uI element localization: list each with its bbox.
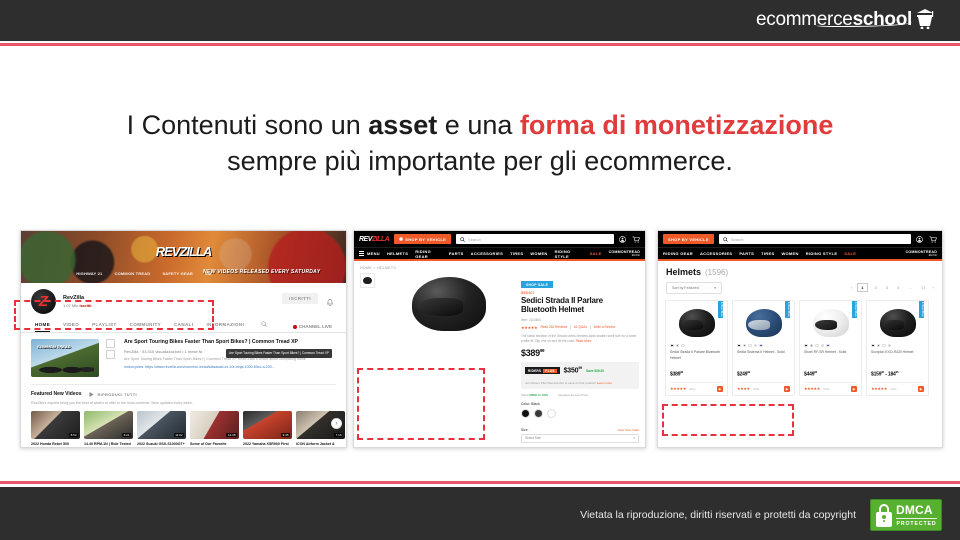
star-rating-icon: ★★★★★ [670,386,686,391]
subs-label: iscritti [79,303,91,308]
price-dollars: $389 [521,348,540,358]
live-dot-icon [293,325,297,329]
graduation-cart-icon [914,9,936,29]
shipping-free: Ships FREE to USA [521,393,548,397]
featured-section-header: Featured New Videos RIPRODUCI TUTTI [21,385,346,397]
video-thumbnail[interactable]: 11:02 [137,411,186,439]
share-icon[interactable] [106,339,115,348]
play-icon [89,392,94,397]
featured-video-row[interactable]: 8:53 2022 Honda Rebel 500 Review | Daily… [21,406,346,448]
headline-part-1: I Contenuti sono un [127,110,369,140]
star-rating-icon: ★★★★★ [521,325,537,330]
add-to-cart-row[interactable]: 1▾ ADD TO CART [521,447,639,448]
color-dot[interactable] [743,344,747,348]
play-all-button[interactable]: RIPRODUCI TUTTI [89,392,136,397]
product-image[interactable] [804,305,857,341]
product-card[interactable]: 4 Star Plus Scorpion EXO-R420 Helmet $15… [866,300,929,396]
product-brand[interactable]: SEDICI [521,291,639,295]
product-rating: ★★★★★ (262) ▶ [670,382,723,395]
featured-video-views: 53.015 visualizzazioni • 1 mese fa [142,349,202,354]
tab-video[interactable]: VIDEO [63,322,79,331]
search-icon [460,237,465,242]
price-dollars: $249 [737,372,747,378]
tab-playlist[interactable]: PLAYLIST [92,322,117,331]
video-duration: 9:45 [281,433,290,437]
product-price: $15995 - 18495 [871,370,924,378]
dmca-label: DMCA [896,504,937,516]
channel-tab-bar[interactable]: HOME VIDEO PLAYLIST COMMUNITY CANALI INF… [21,317,346,333]
blog-subtitle: BLOG [906,254,937,257]
video-badge-icon[interactable]: ▶ [717,386,723,392]
commontread-blog-link[interactable]: COMMONTREADBLOG [609,250,640,257]
live-text: CHANNEL LIVE [299,324,332,329]
tab-community[interactable]: COMMUNITY [130,322,161,331]
nav-women[interactable]: WOMEN [781,251,798,256]
page-4[interactable]: 4 [895,284,901,291]
video-thumbnail[interactable]: 6:21 [84,411,133,439]
video-title[interactable]: Some of Our Favorite Listener Comments f… [190,442,239,448]
size-label: Size: [521,428,528,432]
chevron-right-icon[interactable]: › [933,285,934,290]
search-icon [723,237,728,242]
banner-brand-0: HIGHWAY 21 [76,271,102,276]
swatch-dark-gray[interactable] [534,409,543,418]
color-dot[interactable] [670,344,674,348]
color-dot[interactable] [737,344,741,348]
read-more-link[interactable]: Read More [576,339,592,343]
product-rating-row: ★★★★★ Read 262 Reviews | 62 Q&As | Write… [521,325,639,330]
revzilla-banner-logo: REVZILLA [156,244,212,259]
color-dot[interactable] [877,344,881,348]
video-duration: 14:38 [226,433,237,437]
video-badge-icon[interactable]: ▶ [784,386,790,392]
product-flag: 4 Star Plus [852,301,857,318]
list-item[interactable]: 7:16 ICON Airform Jacket & Pants | Gear … [296,411,345,448]
list-item[interactable]: 6:21 14.40 RPM-1N | Ride Tested RevZilla… [84,411,133,448]
product-description: The latest iteration of the Strada serie… [521,334,639,345]
product-item-number: Item: 1103801 [521,318,639,322]
copyright-notice: Vietata la riproduzione, diritti riserva… [580,509,856,521]
helmet-icon [679,309,715,337]
riders-plus-note-text: Join Riders Plus Membership to save on t… [525,381,596,385]
color-dot[interactable] [676,344,680,348]
shop-by-vehicle-label: SHOP BY VEHICLE [668,237,709,242]
product-price: $38999 [521,348,639,358]
search-placeholder: Search [731,237,744,242]
breadcrumb[interactable]: HOME > HELMETS [354,261,645,273]
color-dot[interactable] [882,344,886,348]
review-count: (158) [753,387,760,391]
featured-video-channel: RevZilla [124,349,138,354]
chevron-left-icon[interactable]: ‹ [851,285,852,290]
guaranteed-low-price: Guaranteed Low Price [558,393,588,397]
plus-price-cents: 99 [578,366,582,370]
color-dot[interactable] [871,344,875,348]
color-options[interactable] [871,344,924,348]
product-image[interactable] [670,305,723,341]
featured-video-side-icons[interactable] [106,339,115,377]
riders-plus-box[interactable]: RIDERSPLUS $35099 Save $39.00 Join Rider… [521,362,639,388]
product-grid: 4 Star Plus Sedici Strada II Parlare Blu… [658,294,942,396]
video-thumbnail[interactable]: 8:53 [31,411,80,439]
featured-video-title[interactable]: Are Sport Touring Bikes Faster Than Spor… [124,339,336,347]
cart-icon [632,236,640,243]
screenshot-product-listing[interactable]: SHOP BY VEHICLE Search RIDING GEAR ACCES… [657,230,943,448]
brand-logo: ecommerceschool [756,9,936,29]
questions-link[interactable]: 62 Q&As [574,325,587,329]
product-rating: ★★★★ (158) ▶ [737,382,790,395]
rating-sep: | [570,325,571,329]
logo-accent: ZILLA [372,236,389,243]
product-name[interactable]: Sedici Sistema II Helmet - Solid [737,350,790,367]
revzilla-logo[interactable]: REVZILLA [359,236,389,243]
size-select[interactable]: Select Size▾ [521,434,639,443]
price-cents: 99 [747,370,750,374]
shipping-info: Ships FREE to USA Guaranteed Low Price [521,393,639,397]
header-icons[interactable] [619,236,640,243]
channel-name: RevZilla [63,295,91,301]
product-image[interactable] [737,305,790,341]
featured-section-description: RevZilla's experts bring you the best of… [21,397,346,406]
main-nav[interactable]: MENU HELMETS RIDING GEAR PARTS ACCESSORI… [354,247,645,259]
video-title[interactable]: 14.40 RPM-1N | Ride Tested [84,442,133,448]
featured-video-thumbnail[interactable]: COMMON TREAD [31,339,99,377]
header-rule-red [0,43,960,46]
size-row: Size: View Size Chart [521,423,639,432]
search-input[interactable]: Search [719,234,911,244]
review-count: (262) [689,387,696,391]
headline-accent: forma di monetizzazione [520,110,834,140]
video-duration: 8:53 [69,433,78,437]
video-thumbnail[interactable]: 9:45 [243,411,292,439]
user-icon [916,236,923,243]
headline-line-2: sempre più importante per gli ecommerce. [227,146,733,176]
dmca-text: DMCA PROTECTED [896,504,937,527]
color-dot[interactable] [759,344,763,348]
featured-video-tooltip: Are Sport Touring Bikes Faster Than Spor… [226,349,332,358]
banner-brand-strip: HIGHWAY 21 COMMON TREAD SAFETY GEAR SM [76,271,211,276]
banner-tagline: NEW VIDEOS RELEASED EVERY SATURDAY [203,269,320,275]
video-badge-icon[interactable]: ▶ [918,386,924,392]
user-icon [619,236,626,243]
subs-count: 1,07 Mln [63,303,79,308]
nav-tires[interactable]: TIRES [510,251,523,256]
video-duration: 6:21 [122,433,131,437]
color-dot[interactable] [821,344,825,348]
tab-canali[interactable]: CANALI [174,322,193,331]
sale-badge[interactable]: SHOP SALE [521,281,553,288]
list-item[interactable]: 11:02 2022 Suzuki GSX-S1000GT+ | Daily R… [137,411,186,448]
page-last[interactable]: 17 [919,284,927,291]
bell-icon[interactable] [326,294,334,302]
listing-toolbar: Sort by Featured▾ ‹ 1 2 3 4 … 17 › [658,277,942,294]
featured-video-link[interactable]: motorcycles: https://www.revzilla.com/co… [124,365,336,371]
nav-women[interactable]: WOMEN [530,251,547,256]
menu-button[interactable]: MENU [359,251,380,256]
chevron-down-icon: ▾ [633,436,635,440]
headline-asset: asset [368,110,437,140]
nav-riding-gear[interactable]: RIDING GEAR [663,251,693,256]
featured-video-block[interactable]: COMMON TREAD Are Sport Touring Bikes Fas… [21,333,346,381]
dmca-protected-badge[interactable]: DMCA PROTECTED [870,499,942,531]
featured-thumb-badge: COMMON TREAD [37,344,71,349]
price-cents: 99 [540,348,544,353]
dmca-sublabel: PROTECTED [896,518,937,527]
product-price: $24999 [737,370,790,378]
nav-parts[interactable]: PARTS [449,251,464,256]
plus-price-dollars: $350 [564,368,579,375]
search-icon[interactable] [261,321,267,332]
hamburger-icon [359,251,364,255]
screenshot-youtube-channel[interactable]: REVZILLA NEW VIDEOS RELEASED EVERY SATUR… [20,230,347,448]
color-dot[interactable] [804,344,808,348]
color-dot[interactable] [815,344,819,348]
page-3[interactable]: 3 [884,284,890,291]
nav-accessories[interactable]: ACCESSORIES [700,251,732,256]
list-item[interactable]: 8:53 2022 Honda Rebel 500 Review | Daily… [31,411,80,448]
product-detail-body: SHOP SALE SEDICI Sedici Strada II Parlar… [354,273,645,449]
nav-accessories[interactable]: ACCESSORIES [471,251,503,256]
read-reviews-link[interactable]: Read 262 Reviews [540,325,567,329]
product-thumbnail[interactable] [360,273,375,288]
page-title: I Contenuti sono un asset e una forma di… [40,108,920,179]
banner-brand-2: SAFETY GEAR [162,271,193,276]
riders-plus-word-1: RIDERS [528,369,541,373]
price-dollars: $159 [871,372,881,378]
price-cents: 99 [680,370,683,374]
star-rating-icon: ★★★★★ [871,386,887,391]
color-dot[interactable] [810,344,814,348]
price-range-second-cents: 95 [896,370,899,374]
nav-riding-style[interactable]: RIDING STYLE [555,249,583,259]
list-item[interactable]: 14:38 Some of Our Favorite Listener Comm… [190,411,239,448]
tab-home[interactable]: HOME [35,322,50,332]
product-card[interactable]: 4 Star Plus Shoei RF-SR Helmet - Solid $… [799,300,862,396]
swatch-black[interactable] [521,409,530,418]
star-rating-icon: ★★★★ [737,386,750,391]
channel-identity: RevZilla 1,07 Mln iscritti [63,295,91,308]
size-chart-link[interactable]: View Size Chart [618,428,639,432]
video-title[interactable]: ICON Airform Jacket & Pants | Gear Teste… [296,442,345,448]
nav-riding-gear[interactable]: RIDING GEAR [415,249,442,259]
commontread-blog-link[interactable]: COMMONTREADBLOG [906,250,937,257]
product-name[interactable]: Scorpion EXO-R420 Helmet [871,350,924,367]
screenshot-product-detail[interactable]: REVZILLA SHOP BY VEHICLE Search MENU HEL… [353,230,646,448]
video-title[interactable]: 2022 Suzuki GSX-S1000GT+ | Daily Rider R… [137,442,186,448]
tab-informazioni[interactable]: INFORMAZIONI [206,322,244,331]
product-thumbnail-list[interactable] [360,273,376,449]
riders-plus-logo: RIDERSPLUS [525,367,560,374]
nav-helmets[interactable]: HELMETS [387,251,408,256]
color-dot[interactable] [888,344,892,348]
vehicle-icon [399,237,403,241]
slide-root: ecommerceschool I Contenuti sono un asse… [0,0,960,540]
product-info-panel: SHOP SALE SEDICI Sedici Strada II Parlar… [521,273,639,449]
color-label: Color: Black [521,402,639,406]
video-title[interactable]: 2022 Yamaha XSR900 First Ride Review [243,442,292,448]
product-card[interactable]: 4 Star Plus Sedici Strada II Parlare Blu… [665,300,728,396]
color-options[interactable] [804,344,857,348]
product-name[interactable]: Shoei RF-SR Helmet - Solid [804,350,857,367]
product-flag: 4 Star Plus [718,301,723,318]
youtube-channel-header: RevZilla 1,07 Mln iscritti ISCRITTI [21,283,346,317]
color-dot[interactable] [681,344,685,348]
price-dollars: $449 [804,372,814,378]
color-dot[interactable] [748,344,752,348]
featured-video-meta: Are Sport Touring Bikes Faster Than Spor… [124,339,336,377]
footer-bar: Vietata la riproduzione, diritti riserva… [0,490,960,540]
size-select-value: Select Size [525,436,541,440]
helmet-image [412,277,486,331]
swatch-white[interactable] [547,409,556,418]
header-icons[interactable] [916,236,937,243]
review-count: (139) [823,387,830,391]
product-rating: ★★★★★ (344) ▶ [871,382,924,395]
lock-icon [875,503,893,527]
color-dot[interactable] [826,344,830,348]
product-image[interactable] [871,305,924,341]
price-range-second: - 184 [884,372,896,378]
riders-plus-word-2: PLUS [543,369,556,373]
riders-plus-price: $35099 [564,366,582,374]
color-swatch-group[interactable] [521,409,639,418]
video-title[interactable]: 2022 Honda Rebel 500 Review | Daily Ride… [31,442,80,448]
cart-icon [929,236,937,243]
video-thumbnail[interactable]: 14:38 [190,411,239,439]
helmet-icon [880,309,916,337]
sort-dropdown[interactable]: Sort by Featured▾ [666,282,722,294]
ship-value: FREE to USA [529,393,548,397]
nav-parts[interactable]: PARTS [739,251,754,256]
category-product-count: (1596) [705,268,728,277]
chevron-down-icon: ▾ [714,286,716,290]
sort-value: Sort by Featured [672,286,699,290]
riders-plus-note: Join Riders Plus Membership to save on t… [525,381,635,385]
save-icon[interactable] [106,350,115,359]
product-hero-image[interactable] [381,273,516,449]
category-title-row: Helmets (1596) [658,261,942,277]
banner-brand-1: COMMON TREAD [114,271,150,276]
write-review-link[interactable]: Write a Review [594,325,615,329]
site-header: SHOP BY VEHICLE Search [658,231,942,247]
youtube-channel-banner: REVZILLA NEW VIDEOS RELEASED EVERY SATUR… [21,231,346,283]
search-input[interactable]: Search [456,234,614,244]
product-rating: ★★★★★ (139) ▶ [804,382,857,395]
page-1[interactable]: 1 [857,283,867,292]
video-duration: 11:02 [174,433,184,437]
rating-sep-2: | [590,325,591,329]
menu-label: MENU [367,251,380,256]
add-to-cart-button[interactable]: ADD TO CART [547,447,639,448]
shop-by-vehicle-button[interactable]: SHOP BY VEHICLE [663,234,714,244]
product-title: Sedici Strada II Parlare Bluetooth Helme… [521,296,639,315]
site-header: REVZILLA SHOP BY VEHICLE Search [354,231,645,247]
nav-sale[interactable]: SALE [590,251,602,256]
helmet-icon [813,309,849,337]
footer-rule-red [0,481,960,484]
pagination[interactable]: ‹ 1 2 3 4 … 17 › [851,283,934,292]
subscribe-button[interactable]: ISCRITTI [282,293,318,304]
blog-subtitle: BLOG [609,254,640,257]
play-all-label: RIPRODUCI TUTTI [97,392,136,397]
star-rating-icon: ★★★★★ [804,386,820,391]
nav-tires[interactable]: TIRES [761,251,774,256]
quantity-stepper[interactable]: 1▾ [521,447,543,448]
channel-avatar[interactable] [31,289,56,314]
channel-subscribers: 1,07 Mln iscritti [63,303,91,308]
savings-label: Save $39.00 [586,369,604,373]
category-title: Helmets [666,267,701,277]
channel-live-label[interactable]: CHANNEL LIVE [293,324,332,329]
price-cents: 99 [814,370,817,374]
product-flag: 4 Star Plus [919,301,924,318]
nav-riding-style[interactable]: RIDING STYLE [806,251,838,256]
video-badge-icon[interactable]: ▶ [851,386,857,392]
product-flag: 4 Star Plus [785,301,790,318]
shop-by-vehicle-label: SHOP BY VEHICLE [405,237,446,242]
video-duration: 7:16 [334,433,343,437]
color-options[interactable] [670,344,723,348]
search-placeholder: Search [468,237,481,242]
product-price: $38999 [670,370,723,378]
banner-brand-3: SM [205,271,211,276]
header-bar: ecommerceschool [0,0,960,38]
list-item[interactable]: 9:45 2022 Yamaha XSR900 First Ride Revie… [243,411,292,448]
page-ellipsis: … [906,284,914,291]
price-dollars: $389 [670,372,680,378]
page-2[interactable]: 2 [873,284,879,291]
color-dot[interactable] [754,344,758,348]
product-price: $44999 [804,370,857,378]
main-nav[interactable]: RIDING GEAR ACCESSORIES PARTS TIRES WOME… [658,247,942,259]
headline-part-2: e una [437,110,520,140]
product-card[interactable]: 4 Star Plus Sedici Sistema II Helmet - S… [732,300,795,396]
shop-by-vehicle-button[interactable]: SHOP BY VEHICLE [394,234,451,244]
color-options[interactable] [737,344,790,348]
featured-section-title: Featured New Videos [31,391,81,397]
nav-sale[interactable]: SALE [844,251,856,256]
review-count: (344) [890,387,897,391]
product-name[interactable]: Sedici Strada II Parlare Bluetooth Helme… [670,350,723,367]
learn-more-link[interactable]: Learn more [597,381,612,385]
helmet-icon [746,309,782,337]
